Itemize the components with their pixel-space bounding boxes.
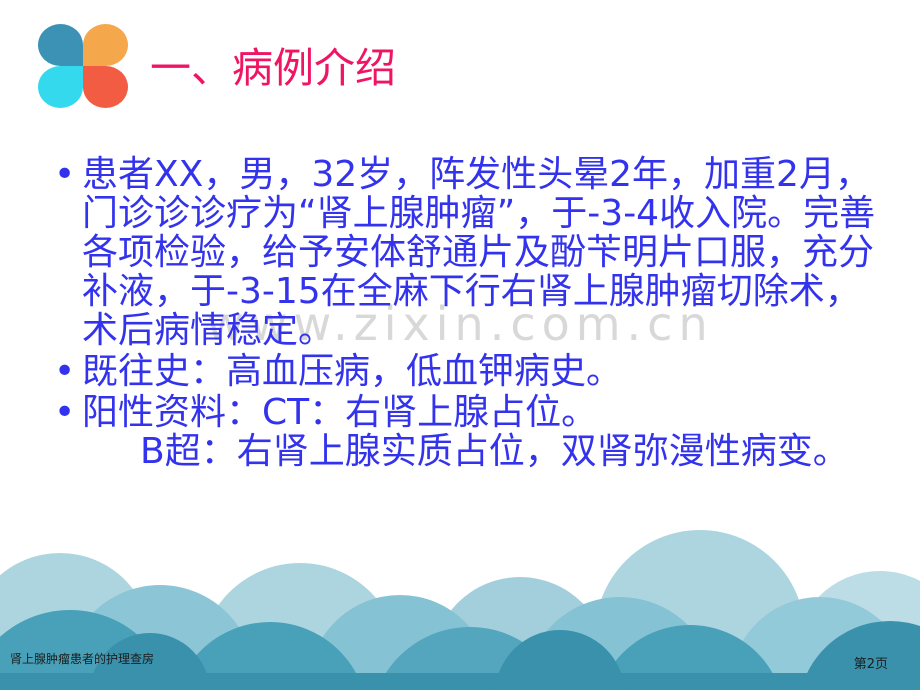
- page-title: 一、病例介绍: [150, 48, 396, 89]
- logo-petal-bottom-left-icon: [38, 66, 83, 108]
- continuation-line-ultrasound: B超：右肾上腺实质占位，双肾弥漫性病变。: [46, 432, 876, 471]
- bullet-text-case-history: 患者XX，男，32岁，阵发性头晕2年，加重2月，门诊诊诊疗为“肾上腺肿瘤”，于-…: [82, 154, 875, 351]
- logo-petal-bottom-right-icon: [83, 66, 128, 108]
- slide-header: 一、病例介绍: [0, 0, 920, 130]
- bullet-item-case-history: • 患者XX，男，32岁，阵发性头晕2年，加重2月，门诊诊诊疗为“肾上腺肿瘤”，…: [46, 155, 876, 350]
- bullet-item-past-history: • 既往史：高血压病，低血钾病史。: [46, 352, 876, 391]
- slide-body: • 患者XX，男，32岁，阵发性头晕2年，加重2月，门诊诊诊疗为“肾上腺肿瘤”，…: [46, 155, 876, 471]
- logo-petal-top-right-icon: [83, 24, 128, 66]
- bullet-text-positive-findings: 阳性资料：CT：右肾上腺占位。: [82, 392, 597, 433]
- bullet-dot-icon: •: [54, 352, 75, 391]
- bullet-dot-icon: •: [54, 155, 75, 194]
- slide: 一、病例介绍 www.zixin.com.cn • 患者XX，男，32岁，阵发性…: [0, 0, 920, 690]
- bullet-item-positive-findings: • 阳性资料：CT：右肾上腺占位。: [46, 393, 876, 432]
- footer-subject-label: 肾上腺肿瘤患者的护理查房: [10, 650, 154, 667]
- logo-petal-top-left-icon: [38, 24, 83, 66]
- page-number-label: 第2页: [854, 653, 888, 672]
- four-petal-flower-logo: [38, 24, 128, 108]
- bullet-dot-icon: •: [54, 393, 75, 432]
- bullet-text-past-history: 既往史：高血压病，低血钾病史。: [82, 351, 622, 392]
